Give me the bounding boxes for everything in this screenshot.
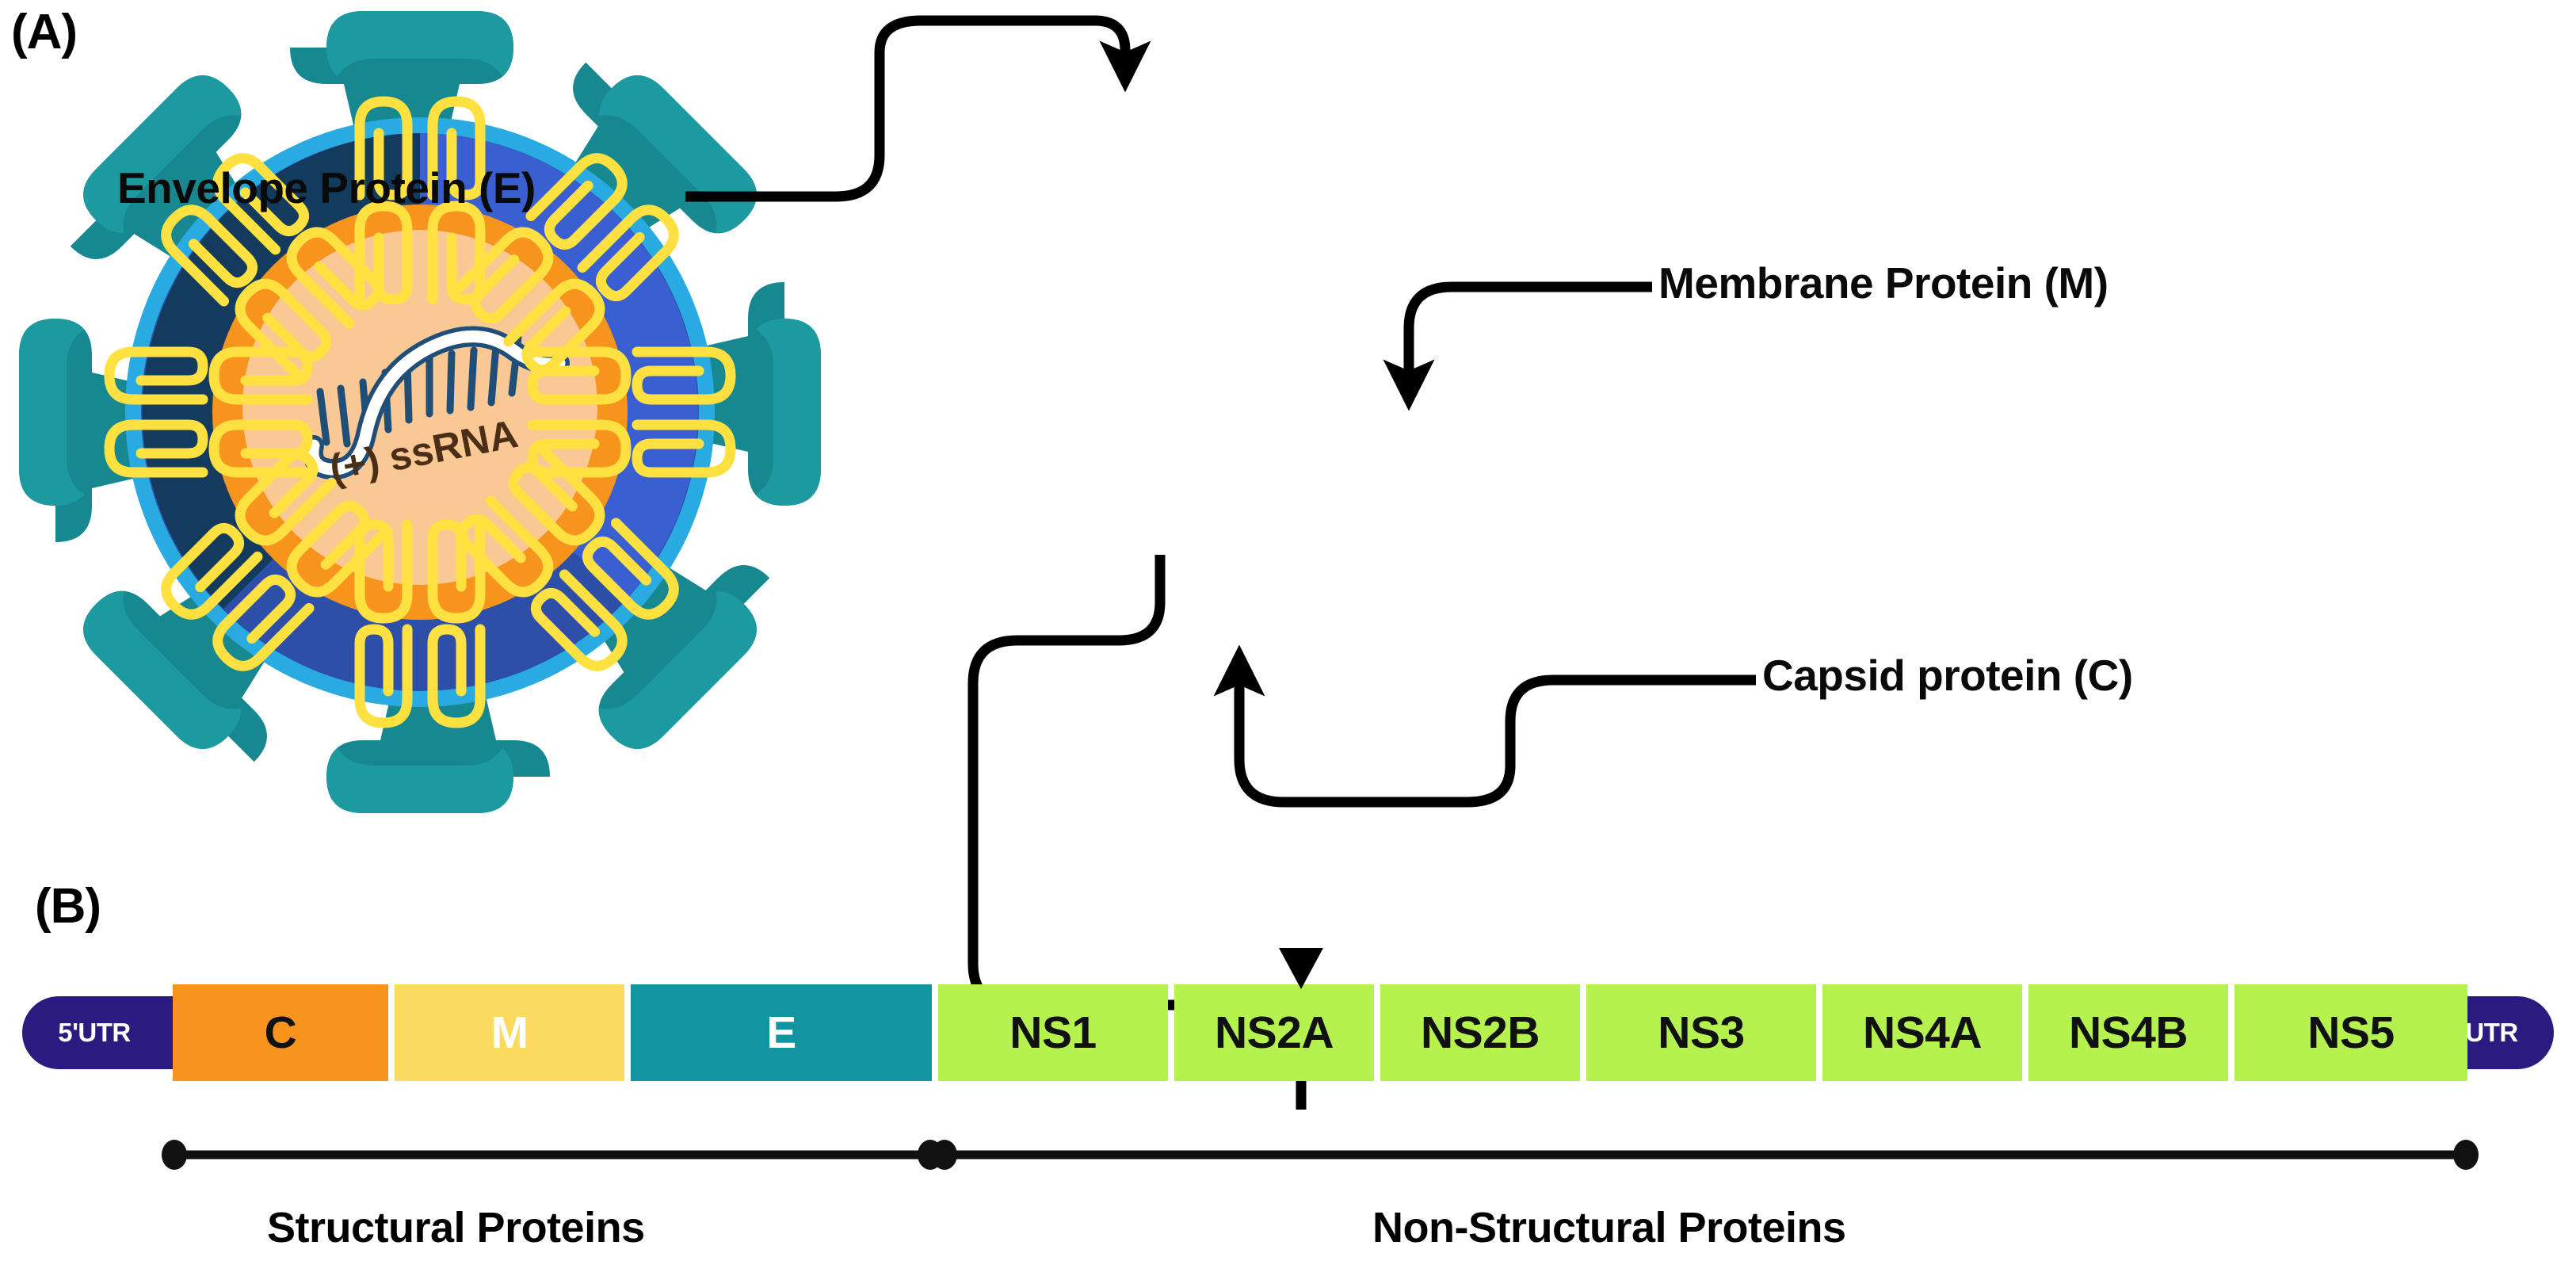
- bracket-label-non-structural: Non-Structural Proteins: [1372, 1203, 1846, 1252]
- bracket-label-structural: Structural Proteins: [267, 1203, 645, 1252]
- bracket-dot: [162, 1140, 187, 1170]
- bracket-lines: [0, 0, 2576, 1280]
- bracket-dot: [2453, 1140, 2479, 1170]
- bracket-dot: [932, 1140, 957, 1170]
- figure-canvas: (A) (B): [0, 0, 2576, 1280]
